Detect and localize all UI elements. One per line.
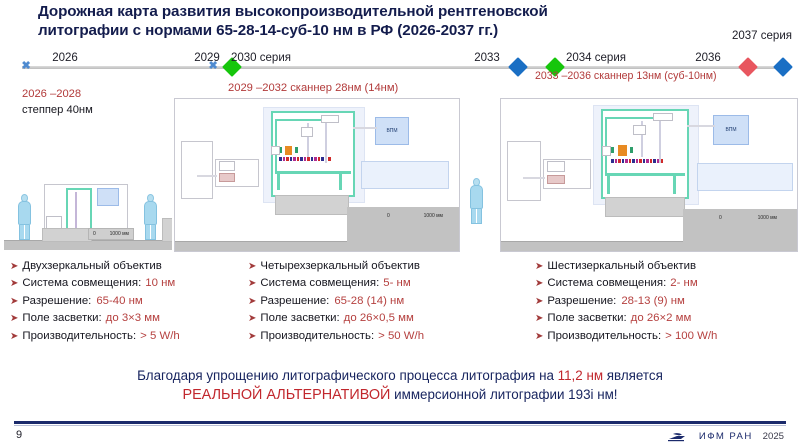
machine-leg-left [607, 176, 610, 194]
timeline-year-2026: 2026 [52, 52, 78, 64]
timeline-caption-13nm: 2033 –2036 сканнер 13нм (суб-10нм) [535, 70, 717, 82]
scale-bar-scanner28: 0 1000 мм [383, 211, 447, 221]
arrow-bullet-icon: ➤ [10, 258, 18, 275]
machine-source-chip [547, 175, 565, 184]
arrow-bullet-icon: ➤ [535, 328, 543, 345]
conclusion-text-b: является [603, 368, 663, 383]
scale-bar-scanner13: 0 1000 мм [715, 213, 781, 223]
arrow-bullet-icon: ➤ [535, 275, 543, 292]
conclusion-highlight-nm: 11,2 нм [558, 368, 603, 383]
machine-module-box [97, 188, 119, 206]
module-label: ВПМ [725, 127, 736, 133]
spec-value: > 5 W/h [140, 328, 180, 345]
spec-label: Четырехзеркальный объектив [260, 258, 420, 275]
spec-item: ➤ Поле засветки: до 3×3 мм [10, 310, 240, 327]
spec-value: 28-13 (9) нм [621, 293, 685, 310]
timeline-year-2033: 2033 [474, 52, 500, 64]
spec-item: ➤ Система совмещения: 2- нм [535, 275, 795, 292]
machine-plinth [275, 195, 349, 215]
spec-label: Производительность: [22, 328, 136, 345]
arrow-bullet-icon: ➤ [248, 275, 256, 292]
spec-value: 10 нм [145, 275, 175, 292]
institute-name: ИФМ РАН [699, 431, 753, 442]
arrow-bullet-icon: ➤ [535, 258, 543, 275]
spec-value: 2- нм [670, 275, 697, 292]
scale-max: 1000 мм [110, 231, 129, 237]
machine-small-label-box [219, 161, 235, 171]
machine-optic-label [633, 125, 646, 135]
machine-chip-green-1 [611, 147, 614, 153]
human-figure-scale-left [18, 194, 31, 240]
machine-optic-label [301, 127, 313, 137]
machine-link-beam [353, 127, 377, 129]
machine-leg-right [673, 176, 676, 194]
module-label: ВПМ [386, 128, 397, 134]
illustration-stepper-40nm: 0 1000 мм [4, 132, 172, 250]
spec-value: до 3×3 мм [106, 310, 160, 327]
spec-item: ➤ Разрешение: 65-40 нм [10, 293, 240, 310]
scale-bar-stepper: 0 1000 мм [88, 228, 134, 240]
spec-value: до 26×2 мм [631, 310, 692, 327]
footer-year: 2025 [763, 431, 784, 442]
timeline-series-2037: 2037 серия [732, 30, 792, 42]
arrow-bullet-icon: ➤ [248, 310, 256, 327]
spec-label: Разрешение: [547, 293, 616, 310]
machine-source-chip [219, 173, 235, 182]
machine-right-chamber [697, 163, 793, 191]
spec-item: ➤ Поле засветки: до 26×0,5 мм [248, 310, 518, 327]
machine-detector-array [611, 159, 663, 163]
scale-max: 1000 мм [758, 215, 777, 221]
spec-value: 5- нм [383, 275, 410, 292]
scale-zero: 0 [719, 215, 722, 221]
footer-branding: ИФМ РАН 2025 [667, 431, 784, 442]
machine-small-label-box [547, 161, 565, 172]
slide-root: Дорожная карта развития высокопроизводит… [0, 0, 800, 448]
roadmap-timeline: ✖ 2026 2029 ✖ 2030 серия 2033 2034 серия… [0, 44, 800, 86]
machine-input-beam [197, 175, 217, 177]
machine-chip-orange [618, 145, 627, 156]
title-line-2: литографии с нормами 65-28-14-суб-10 нм … [38, 21, 728, 40]
machine-optical-column-2 [325, 123, 327, 163]
arrow-bullet-icon: ➤ [10, 328, 18, 345]
spec-item: ➤ Производительность: > 100 W/h [535, 328, 795, 345]
spec-item: ➤ Шестизеркальный объектив [535, 258, 795, 275]
footer-divider-thin [14, 425, 786, 426]
machine-right-chamber [361, 161, 449, 189]
spec-value: до 26×0,5 мм [344, 310, 414, 327]
spec-item: ➤ Поле засветки: до 26×2 мм [535, 310, 795, 327]
spec-item: ➤ Система совмещения: 10 нм [10, 275, 240, 292]
scale-zero: 0 [93, 231, 96, 237]
footer-divider [14, 421, 786, 424]
conclusion-text-c: иммерсионной литографии 193i нм! [390, 387, 617, 402]
machine-detector-array [279, 157, 331, 161]
machine-beam-column [75, 192, 77, 228]
timeline-axis [22, 66, 782, 69]
machine-far-left-box [181, 141, 213, 199]
panel-caption-stepper-years: 2026 –2028 [22, 88, 81, 100]
human-figure-scale-right [144, 194, 157, 240]
spec-item: ➤ Система совмещения: 5- нм [248, 275, 518, 292]
machine-chip-box [271, 146, 280, 155]
illustration-scanner-28nm: ВПМ 0 1000 мм [174, 98, 460, 252]
spec-column-scanner-13nm: ➤ Шестизеркальный объектив ➤ Система сов… [535, 258, 795, 345]
arrow-bullet-icon: ➤ [248, 258, 256, 275]
slide-number: 9 [16, 429, 22, 441]
spec-label: Система совмещения: [260, 275, 379, 292]
conclusion-text-a: Благодаря упрощению литографического про… [137, 368, 558, 383]
spec-value: 65-40 нм [96, 293, 142, 310]
spec-column-stepper-40nm: ➤ Двухзеркальный объектив ➤ Система совм… [10, 258, 240, 345]
machine-input-beam [523, 177, 545, 179]
machine-green-frame [271, 111, 355, 197]
timeline-diamond-2033-icon [508, 57, 528, 77]
page-title: Дорожная карта развития высокопроизводит… [38, 2, 728, 40]
title-line-1: Дорожная карта развития высокопроизводит… [38, 2, 728, 21]
timeline-diamond-2036-icon [738, 57, 758, 77]
spec-label: Двухзеркальный объектив [22, 258, 161, 275]
spec-label: Шестизеркальный объектив [547, 258, 696, 275]
timeline-diamond-2037-icon [773, 57, 793, 77]
machine-module-vpm: ВПМ [375, 117, 409, 145]
machine-plinth [605, 197, 685, 217]
machine-top-label [321, 115, 339, 123]
timeline-series-2034: 2034 серия [566, 52, 626, 64]
conclusion-block: Благодаря упрощению литографического про… [0, 366, 800, 405]
human-figure-scale-middle [470, 178, 483, 224]
machine-top-label [653, 113, 673, 121]
machine-chip-green-2 [630, 147, 633, 153]
panel-caption-stepper-name: степпер 40нм [22, 104, 93, 116]
spec-column-scanner-28nm: ➤ Четырехзеркальный объектив ➤ Система с… [248, 258, 518, 345]
conclusion-line-2: РЕАЛЬНОЙ АЛЬТЕРНАТИВОЙ иммерсионной лито… [0, 385, 800, 405]
scale-zero: 0 [387, 213, 390, 219]
spec-columns: ➤ Двухзеркальный объектив ➤ Система совм… [0, 258, 800, 356]
spec-item: ➤ Разрешение: 65-28 (14) нм [248, 293, 518, 310]
machine-link-beam [687, 125, 715, 127]
machine-plinth [42, 228, 92, 242]
arrow-bullet-icon: ➤ [10, 310, 18, 327]
side-block [162, 218, 172, 242]
spec-label: Поле засветки: [547, 310, 626, 327]
spec-label: Производительность: [547, 328, 661, 345]
spec-value: 65-28 (14) нм [334, 293, 404, 310]
institute-logo-icon [667, 432, 689, 442]
machine-leg-left [277, 174, 280, 190]
spec-label: Разрешение: [260, 293, 329, 310]
illustration-scanner-13nm: ВПМ 0 1000 мм [500, 98, 798, 252]
arrow-bullet-icon: ➤ [10, 275, 18, 292]
spec-label: Поле засветки: [22, 310, 101, 327]
panel-caption-scanner28: 2029 –2032 сканнер 28нм (14нм) [228, 82, 398, 94]
machine-chip-orange [285, 146, 292, 155]
spec-label: Поле засветки: [260, 310, 339, 327]
arrow-bullet-icon: ➤ [248, 293, 256, 310]
spec-value: > 50 W/h [378, 328, 424, 345]
spec-item: ➤ Производительность: > 50 W/h [248, 328, 518, 345]
machine-module-vpm: ВПМ [713, 115, 749, 145]
timeline-series-2030: 2030 серия [231, 52, 291, 64]
arrow-bullet-icon: ➤ [535, 310, 543, 327]
timeline-year-2036: 2036 [695, 52, 721, 64]
machine-optical-column-2 [659, 121, 661, 163]
scale-max: 1000 мм [424, 213, 443, 219]
conclusion-line-1: Благодаря упрощению литографического про… [0, 366, 800, 385]
spec-value: > 100 W/h [665, 328, 717, 345]
spec-label: Разрешение: [22, 293, 91, 310]
spec-label: Система совмещения: [22, 275, 141, 292]
spec-item: ➤ Двухзеркальный объектив [10, 258, 240, 275]
spec-item: ➤ Производительность: > 5 W/h [10, 328, 240, 345]
machine-far-left-box [507, 141, 541, 201]
timeline-x-marker-2030: ✖ [209, 62, 218, 71]
arrow-bullet-icon: ➤ [10, 293, 18, 310]
conclusion-highlight-alternative: РЕАЛЬНОЙ АЛЬТЕРНАТИВОЙ [182, 387, 390, 403]
machine-leg-right [339, 174, 342, 190]
spec-item: ➤ Четырехзеркальный объектив [248, 258, 518, 275]
machine-chip-green-2 [295, 147, 298, 153]
spec-item: ➤ Разрешение: 28-13 (9) нм [535, 293, 795, 310]
spec-label: Система совмещения: [547, 275, 666, 292]
arrow-bullet-icon: ➤ [248, 328, 256, 345]
arrow-bullet-icon: ➤ [535, 293, 543, 310]
machine-chip-box [602, 146, 611, 156]
machine-brace-corner [275, 119, 277, 121]
spec-label: Производительность: [260, 328, 374, 345]
timeline-x-marker-start: ✖ [22, 62, 31, 71]
